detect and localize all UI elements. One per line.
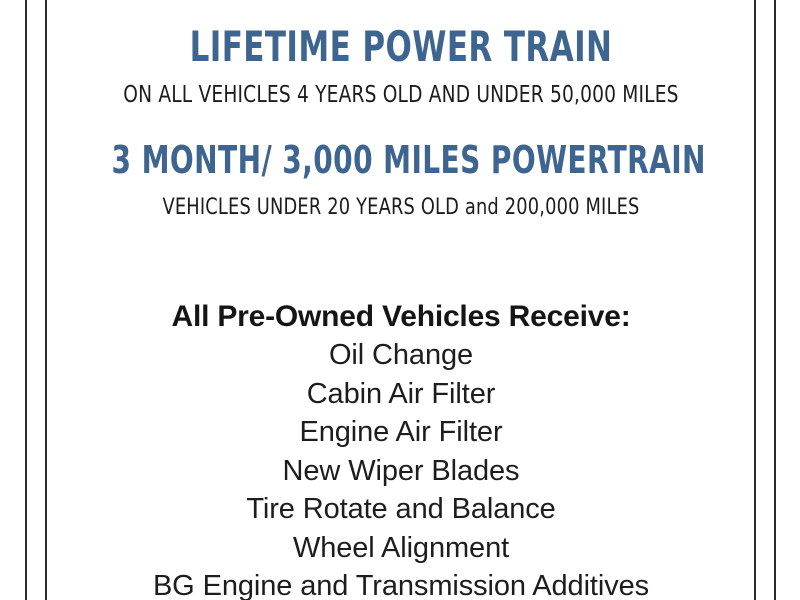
list-item: Engine Air Filter [48,413,754,452]
services-heading: All Pre-Owned Vehicles Receive: [48,298,754,336]
list-item: Cabin Air Filter [48,375,754,414]
list-item: Wheel Alignment [48,529,754,568]
services-block: All Pre-Owned Vehicles Receive: Oil Chan… [48,298,754,600]
content-column: LIFETIME POWER TRAIN ON ALL VEHICLES 4 Y… [48,0,754,600]
border-rule-left-inner [45,0,47,600]
warranty-headline-3-month-powertrain: 3 MONTH/ 3,000 MILES POWERTRAIN [112,141,691,179]
border-rule-right-inner [754,0,756,600]
warranty-headline-lifetime-power-train: LIFETIME POWER TRAIN [112,26,691,68]
list-item: Tire Rotate and Balance [48,490,754,529]
list-item: BG Engine and Transmission Additives [48,567,754,600]
list-item: New Wiper Blades [48,452,754,491]
border-rule-left-outer [25,0,27,600]
list-item: Oil Change [48,336,754,375]
border-rule-right-outer [774,0,776,600]
warranty-subline-lifetime-power-train: ON ALL VEHICLES 4 YEARS OLD AND UNDER 50… [83,84,718,107]
warranty-subline-3-month-powertrain: VEHICLES UNDER 20 YEARS OLD and 200,000 … [83,197,718,219]
flyer-page: LIFETIME POWER TRAIN ON ALL VEHICLES 4 Y… [0,0,800,600]
services-list: Oil Change Cabin Air Filter Engine Air F… [48,336,754,600]
